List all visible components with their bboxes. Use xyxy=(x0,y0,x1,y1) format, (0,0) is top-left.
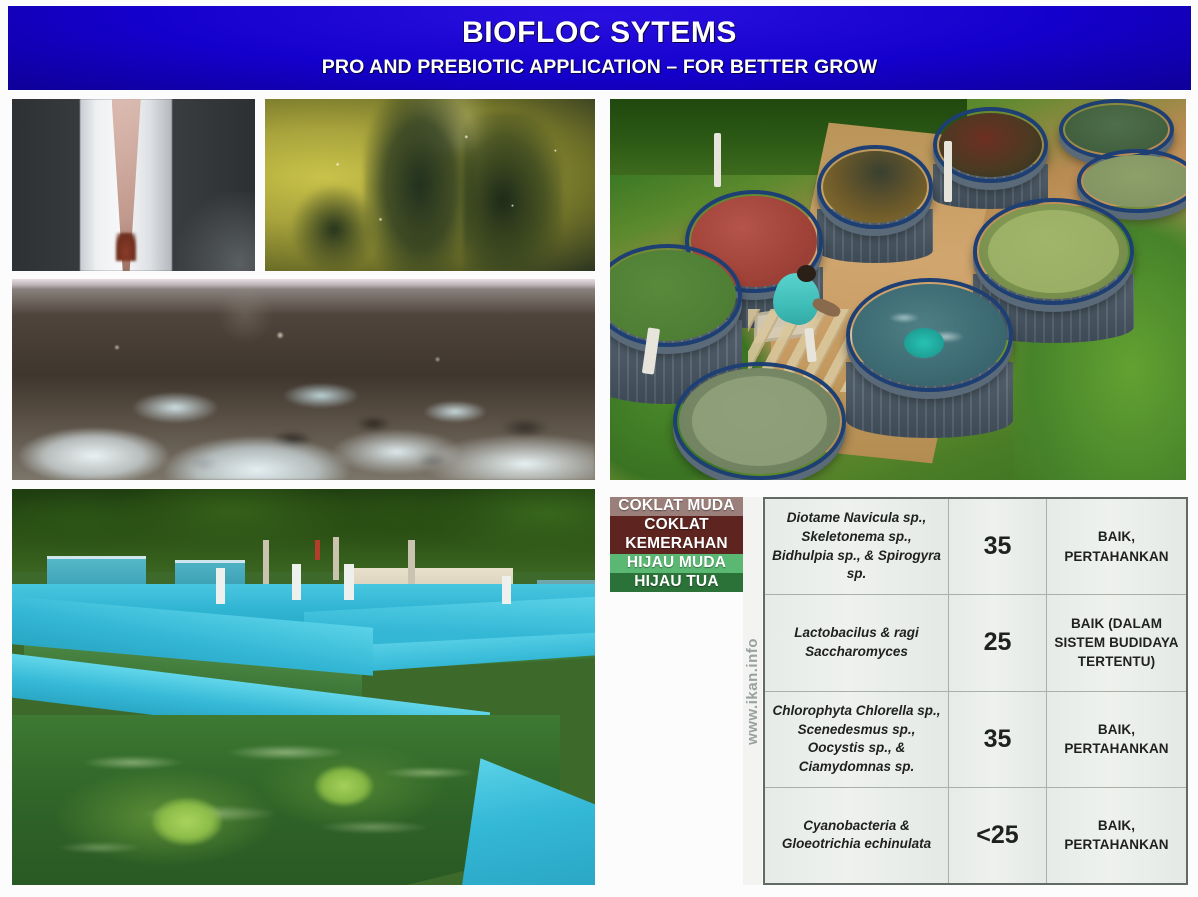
table-row: Diotame Navicula sp., Skeletonema sp., B… xyxy=(765,499,1186,595)
cell-organisms: Lactobacilus & ragi Saccharomyces xyxy=(765,595,949,690)
table-row: Cyanobacteria & Gloeotrichia echinulata … xyxy=(765,788,1186,883)
cell-action: BAIK (DALAM SISTEM BUDIDAYA TERTENTU) xyxy=(1047,595,1186,690)
water-color-data-table: Diotame Navicula sp., Skeletonema sp., B… xyxy=(763,497,1188,885)
legend-cell-coklat-muda: COKLAT MUDA xyxy=(610,497,743,516)
biofloc-round-tanks-photo xyxy=(610,99,1186,480)
page-subtitle: PRO AND PREBIOTIC APPLICATION – FOR BETT… xyxy=(322,56,877,79)
page-title: BIOFLOC SYTEMS xyxy=(462,17,737,49)
legend-cell-hijau-muda: HIJAU MUDA xyxy=(610,554,743,573)
fish-net xyxy=(904,328,944,358)
slide-root: BIOFLOC SYTEMS PRO AND PREBIOTIC APPLICA… xyxy=(0,0,1198,897)
cell-action: BAIK, PERTAHANKAN xyxy=(1047,692,1186,787)
cell-organisms: Cyanobacteria & Gloeotrichia echinulata xyxy=(765,788,949,883)
round-tank xyxy=(817,145,932,229)
table-row: Chlorophyta Chlorella sp., Scenedesmus s… xyxy=(765,692,1186,788)
cell-value: 35 xyxy=(949,499,1047,594)
floc-water-surface-photo xyxy=(12,279,595,480)
table-row: Lactobacilus & ragi Saccharomyces 25 BAI… xyxy=(765,595,1186,691)
floc-settling-cone-photo xyxy=(12,99,255,271)
cell-action: BAIK, PERTAHANKAN xyxy=(1047,499,1186,594)
watermark-strip: www.ikan.info xyxy=(743,497,762,885)
legend-cell-coklat-kemerahan: COKLAT KEMERAHAN xyxy=(610,516,743,554)
cell-organisms: Chlorophyta Chlorella sp., Scenedesmus s… xyxy=(765,692,949,787)
cell-value: <25 xyxy=(949,788,1047,883)
watermark-text: www.ikan.info xyxy=(744,638,761,745)
cell-action: BAIK, PERTAHANKAN xyxy=(1047,788,1186,883)
cell-value: 35 xyxy=(949,692,1047,787)
round-tank xyxy=(673,362,846,480)
floc-microscope-photo xyxy=(265,99,595,271)
round-tank-algae xyxy=(973,198,1134,305)
legend-cell-hijau-tua: HIJAU TUA xyxy=(610,573,743,592)
title-banner: BIOFLOC SYTEMS PRO AND PREBIOTIC APPLICA… xyxy=(8,6,1191,90)
cyan-raceway-ponds-photo xyxy=(12,489,595,885)
cell-organisms: Diotame Navicula sp., Skeletonema sp., B… xyxy=(765,499,949,594)
water-color-legend-column: COKLAT MUDA COKLAT KEMERAHAN HIJAU MUDA … xyxy=(610,497,743,885)
cell-value: 25 xyxy=(949,595,1047,690)
